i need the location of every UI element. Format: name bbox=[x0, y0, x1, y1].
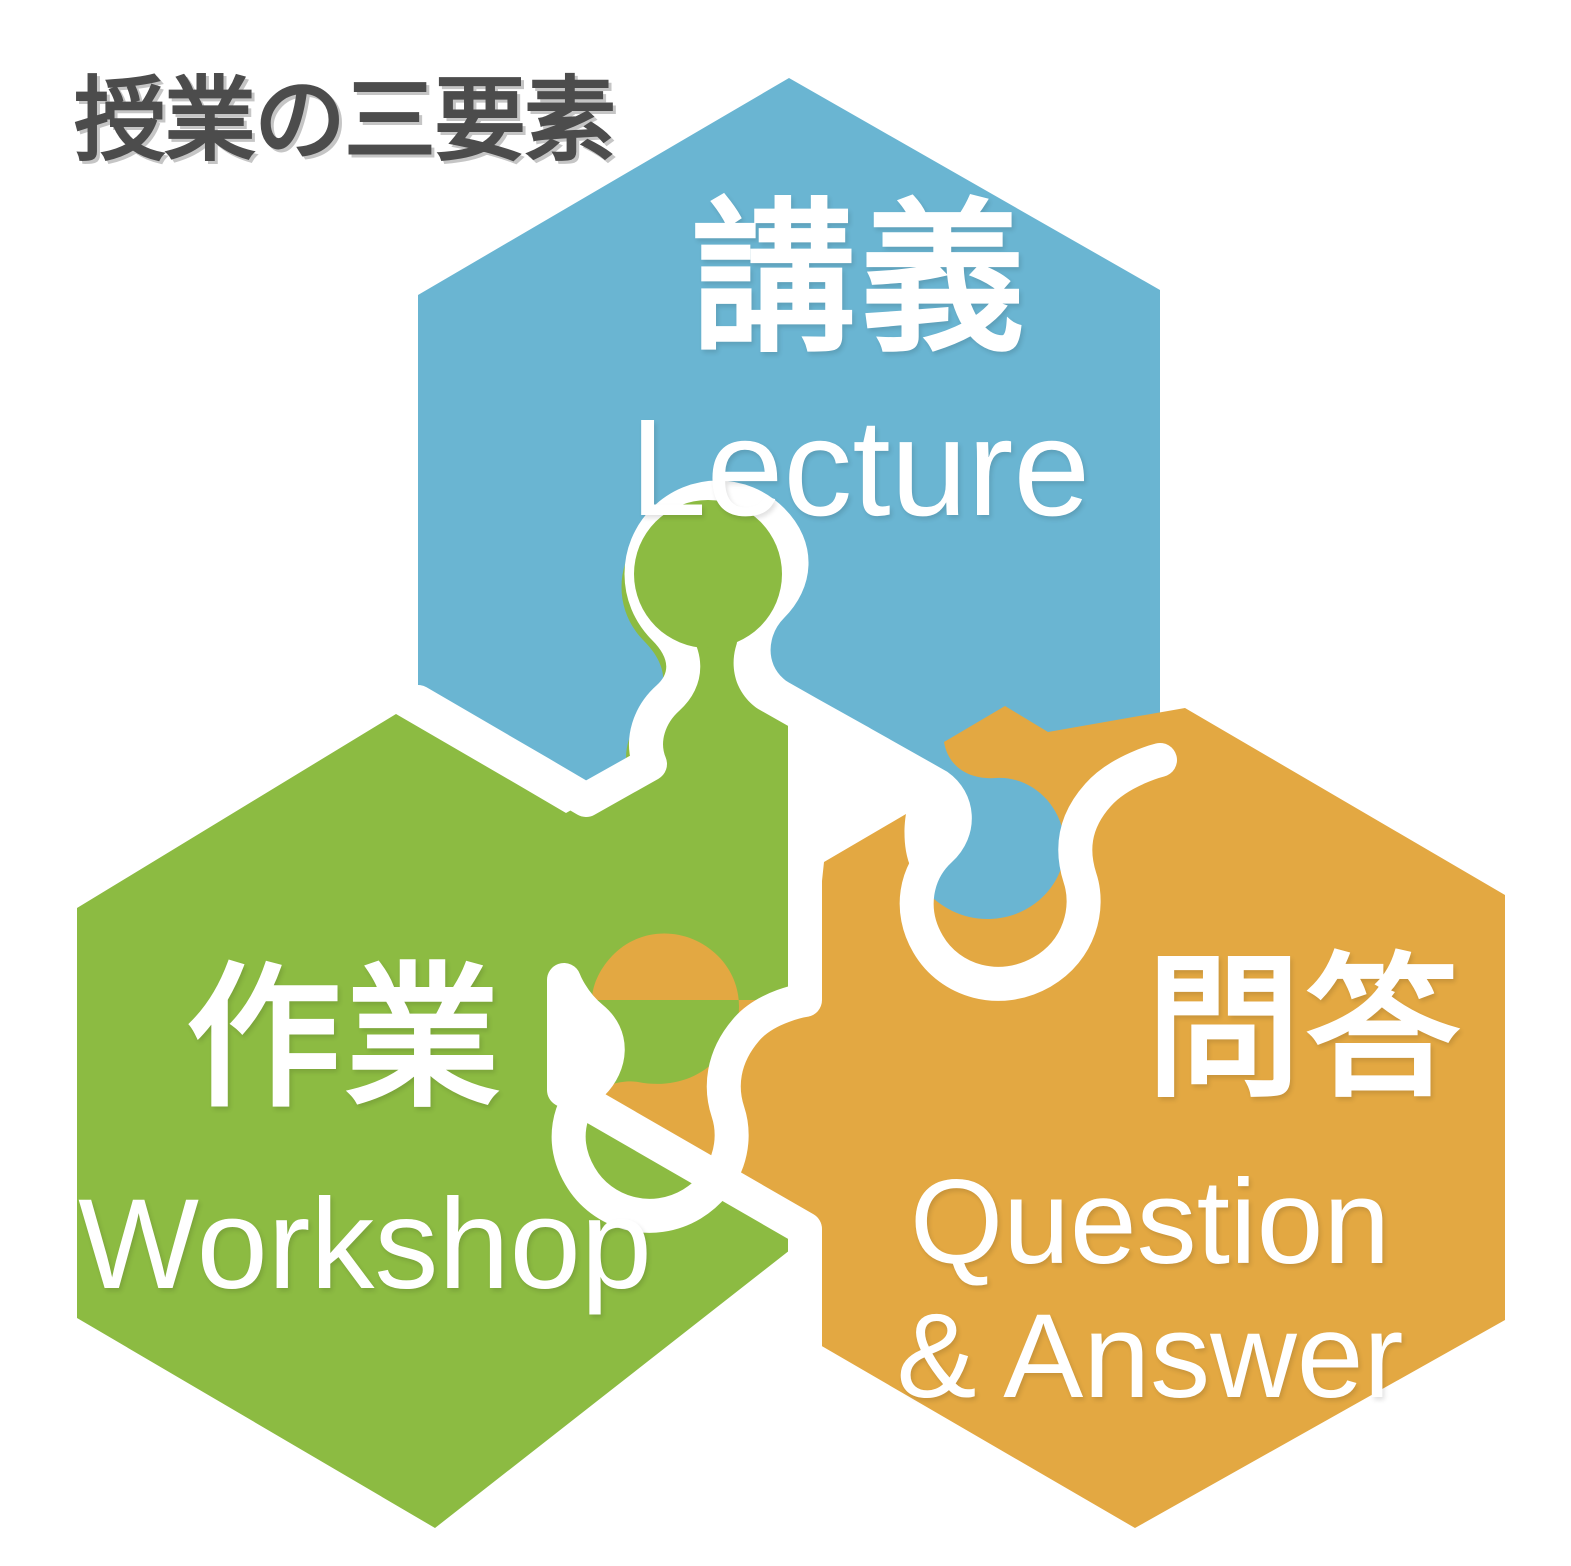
three-elements-puzzle-diagram bbox=[0, 0, 1571, 1566]
knob-green-into-blue bbox=[634, 500, 782, 648]
page-title: 授業の三要素 bbox=[74, 75, 614, 167]
